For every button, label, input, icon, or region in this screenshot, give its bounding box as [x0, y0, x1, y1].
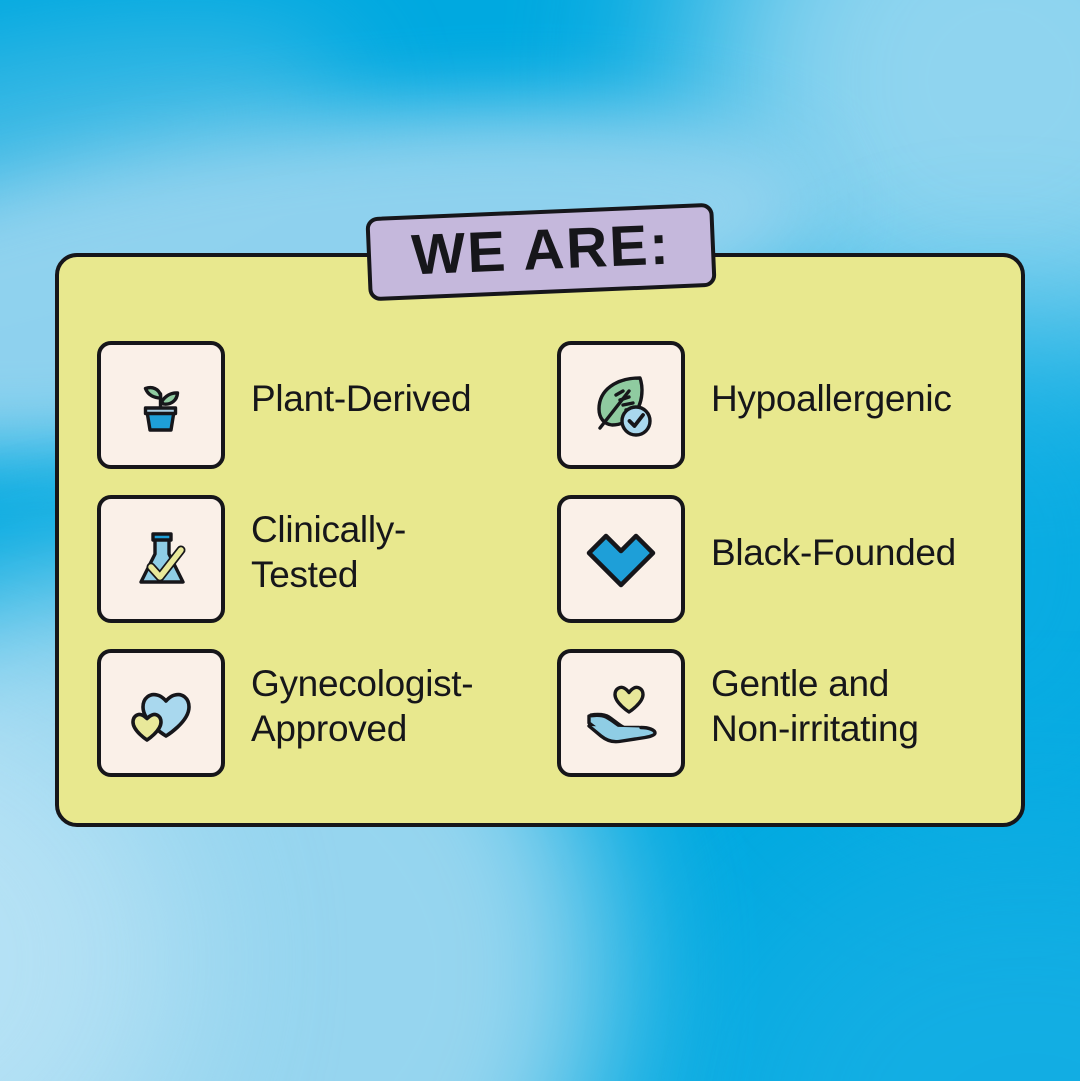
feature-label-line-1: Gentle and [711, 663, 889, 704]
feature-black-founded: Black-Founded [557, 495, 997, 649]
background-glow-bottom-right [680, 821, 1080, 1081]
feature-icon-tile [557, 649, 685, 777]
feature-icon-tile [97, 341, 225, 469]
two-hearts-icon [121, 678, 201, 748]
feature-icon-tile [557, 495, 685, 623]
feature-icon-tile [97, 495, 225, 623]
feature-label-line-2: Tested [251, 554, 358, 595]
feature-icon-tile [97, 649, 225, 777]
feature-label: Gynecologist-Approved [251, 649, 473, 751]
feature-label-line-1: Gynecologist- [251, 663, 473, 704]
feature-icon-tile [557, 341, 685, 469]
flask-check-icon [124, 522, 198, 596]
feature-gynecologist-approved: Gynecologist-Approved [97, 649, 557, 803]
feature-label-line-2: Approved [251, 708, 407, 749]
features-grid: Plant-Derived Hypoallergenic [97, 341, 997, 803]
page-title: WE ARE: [410, 216, 671, 284]
feature-label: Gentle andNon-irritating [711, 649, 919, 751]
potted-plant-icon [124, 368, 198, 442]
we-are-badge: WE ARE: [365, 203, 716, 301]
feature-plant-derived: Plant-Derived [97, 341, 557, 495]
feature-label: Clinically-Tested [251, 495, 406, 597]
angular-heart-icon [581, 522, 661, 596]
hand-holding-heart-icon [579, 676, 663, 750]
feature-clinically-tested: Clinically-Tested [97, 495, 557, 649]
feature-label-line-2: Non-irritating [711, 708, 919, 749]
leaf-check-icon [582, 366, 660, 444]
feature-label: Hypoallergenic [711, 341, 952, 421]
feature-gentle-non-irritating: Gentle andNon-irritating [557, 649, 997, 803]
feature-label: Black-Founded [711, 495, 956, 575]
feature-label: Plant-Derived [251, 341, 471, 421]
feature-hypoallergenic: Hypoallergenic [557, 341, 997, 495]
feature-label-line-1: Clinically- [251, 509, 406, 550]
